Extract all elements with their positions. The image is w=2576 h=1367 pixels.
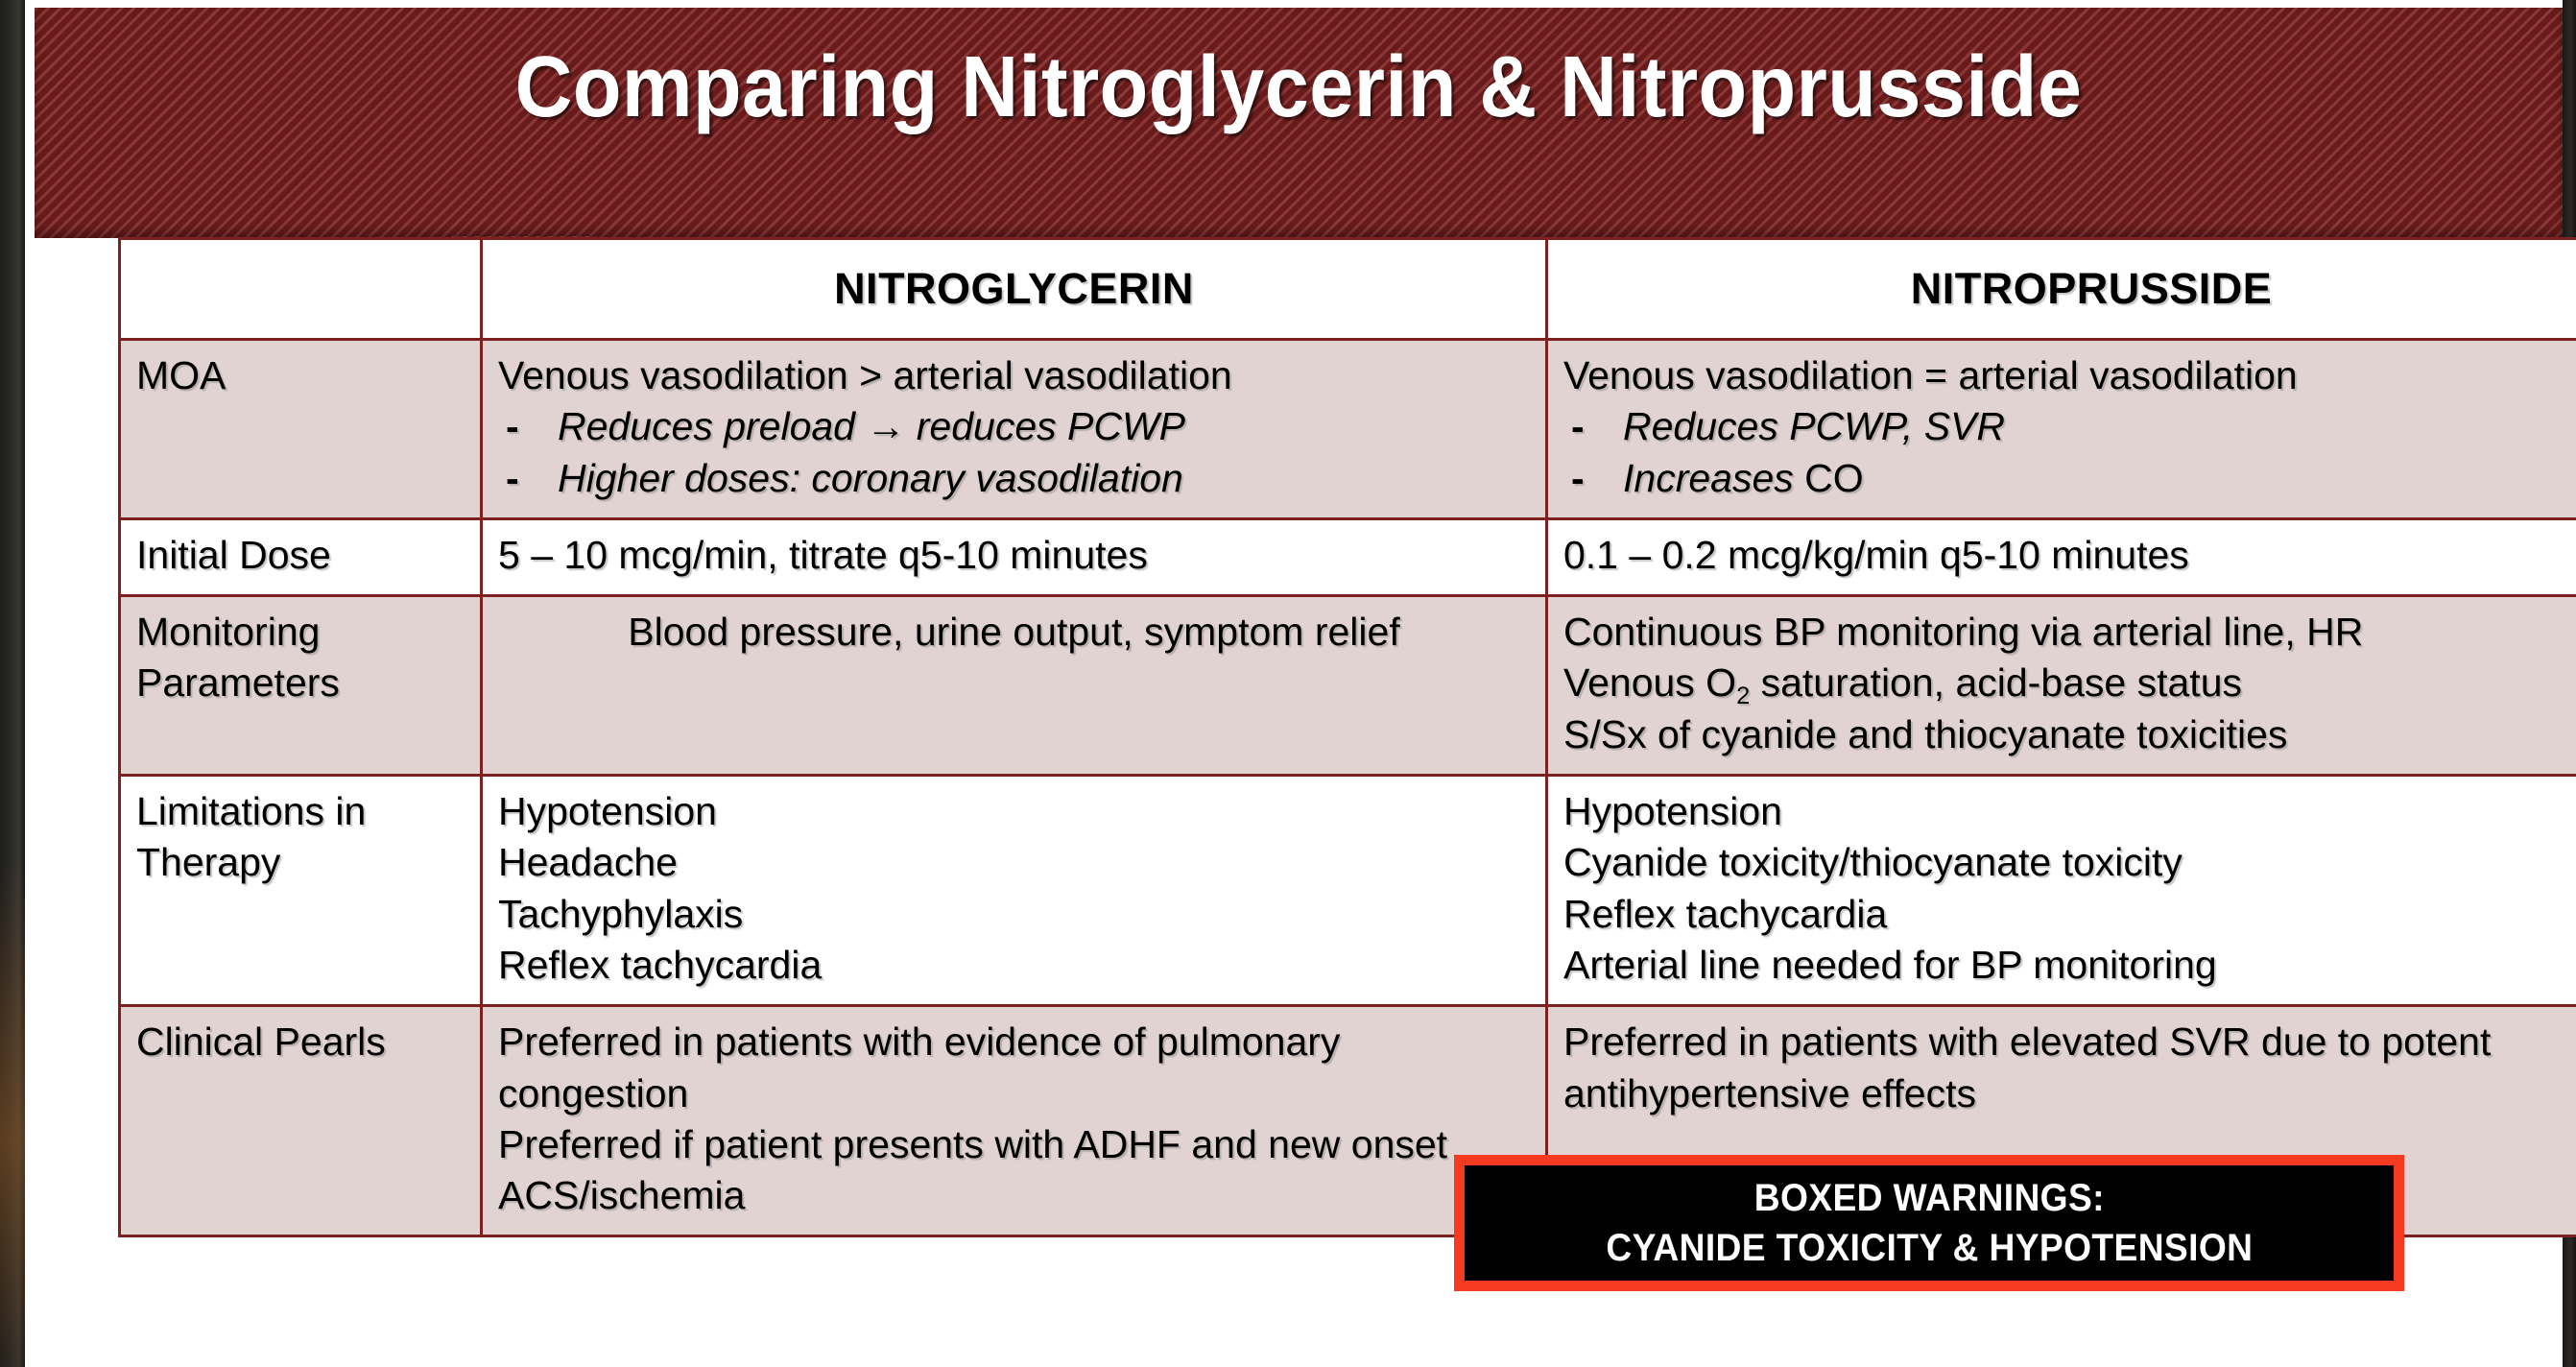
cell-text-line: Reflex tachycardia <box>498 940 1530 991</box>
cell-text-line: Cyanide toxicity/thiocyanate toxicity <box>1563 837 2576 888</box>
cell-nitroglycerin-1: 5 – 10 mcg/min, titrate q5-10 minutes <box>482 518 1547 595</box>
table-header-blank <box>120 239 482 340</box>
table-row: Monitoring ParametersBlood pressure, uri… <box>120 596 2576 776</box>
table-header-nitroglycerin: NITROGLYCERIN <box>482 239 1547 340</box>
table-row: MOAVenous vasodilation > arterial vasodi… <box>120 340 2576 519</box>
cell-nitroglycerin-2: Blood pressure, urine output, symptom re… <box>482 596 1547 776</box>
table-header-nitroprusside: NITROPRUSSIDE <box>1547 239 2576 340</box>
cell-nitroprusside-3: HypotensionCyanide toxicity/thiocyanate … <box>1547 776 2576 1006</box>
slide-canvas: Comparing Nitroglycerin & Nitroprusside … <box>0 0 2576 1367</box>
cell-lead-line: 0.1 – 0.2 mcg/kg/min q5-10 minutes <box>1563 530 2576 581</box>
cell-nitroglycerin-4: Preferred in patients with evidence of p… <box>482 1006 1547 1236</box>
table-header-row: NITROGLYCERIN NITROPRUSSIDE <box>120 239 2576 340</box>
cell-nitroprusside-1: 0.1 – 0.2 mcg/kg/min q5-10 minutes <box>1547 518 2576 595</box>
cell-lead-line: 5 – 10 mcg/min, titrate q5-10 minutes <box>498 530 1530 581</box>
slide-left-frame-glow <box>0 864 25 1367</box>
cell-text-line: Hypotension <box>1563 786 2576 837</box>
cell-text-line: Preferred if patient presents with ADHF … <box>498 1119 1530 1222</box>
table-row: Initial Dose5 – 10 mcg/min, titrate q5-1… <box>120 518 2576 595</box>
boxed-warning-callout: BOXED WARNINGS: CYANIDE TOXICITY & HYPOT… <box>1454 1155 2404 1291</box>
page-title: Comparing Nitroglycerin & Nitroprusside <box>135 42 2461 133</box>
row-label-0: MOA <box>120 340 482 519</box>
cell-bullet-list: Reduces PCWP, SVRIncreases CO <box>1563 401 2576 504</box>
row-label-2: Monitoring Parameters <box>120 596 482 776</box>
cell-lead-line: Blood pressure, urine output, symptom re… <box>498 607 1530 658</box>
cell-text-line: Arterial line needed for BP monitoring <box>1563 940 2576 991</box>
boxed-warning-detail: CYANIDE TOXICITY & HYPOTENSION <box>1606 1223 2253 1273</box>
cell-bullet-item: Reduces PCWP, SVR <box>1563 401 2576 452</box>
cell-text-line: Preferred in patients with elevated SVR … <box>1563 1017 2576 1119</box>
cell-text-line: Tachyphylaxis <box>498 889 1530 940</box>
cell-bullet-list: Reduces preload → reduces PCWPHigher dos… <box>498 401 1530 504</box>
cell-text-line: Headache <box>498 837 1530 888</box>
row-label-1: Initial Dose <box>120 518 482 595</box>
cell-nitroprusside-2: Continuous BP monitoring via arterial li… <box>1547 596 2576 776</box>
cell-text-line: Continuous BP monitoring via arterial li… <box>1563 607 2576 658</box>
table-body: MOAVenous vasodilation > arterial vasodi… <box>120 340 2576 1236</box>
cell-text-line: Hypotension <box>498 786 1530 837</box>
row-label-3: Limitations in Therapy <box>120 776 482 1006</box>
cell-nitroglycerin-3: HypotensionHeadacheTachyphylaxisReflex t… <box>482 776 1547 1006</box>
comparison-table: NITROGLYCERIN NITROPRUSSIDE MOAVenous va… <box>118 237 2576 1237</box>
table-row: Limitations in TherapyHypotensionHeadach… <box>120 776 2576 1006</box>
cell-text-line: Reflex tachycardia <box>1563 889 2576 940</box>
boxed-warning-title: BOXED WARNINGS: <box>1753 1173 2104 1223</box>
slide-left-frame <box>0 0 25 1367</box>
cell-nitroglycerin-0: Venous vasodilation > arterial vasodilat… <box>482 340 1547 519</box>
cell-text-line: Preferred in patients with evidence of p… <box>498 1017 1530 1119</box>
cell-lead-line: Venous vasodilation = arterial vasodilat… <box>1563 350 2576 401</box>
cell-lead-line: Venous vasodilation > arterial vasodilat… <box>498 350 1530 401</box>
title-banner: Comparing Nitroglycerin & Nitroprusside <box>35 8 2563 238</box>
row-label-4: Clinical Pearls <box>120 1006 482 1236</box>
cell-bullet-item: Higher doses: coronary vasodilation <box>498 453 1530 504</box>
table-header: NITROGLYCERIN NITROPRUSSIDE <box>120 239 2576 340</box>
cell-text-line: S/Sx of cyanide and thiocyanate toxiciti… <box>1563 709 2576 760</box>
cell-text-line: Venous O2 saturation, acid-base status <box>1563 658 2576 708</box>
cell-bullet-item: Increases CO <box>1563 453 2576 504</box>
cell-nitroprusside-0: Venous vasodilation = arterial vasodilat… <box>1547 340 2576 519</box>
cell-bullet-item: Reduces preload → reduces PCWP <box>498 401 1530 452</box>
